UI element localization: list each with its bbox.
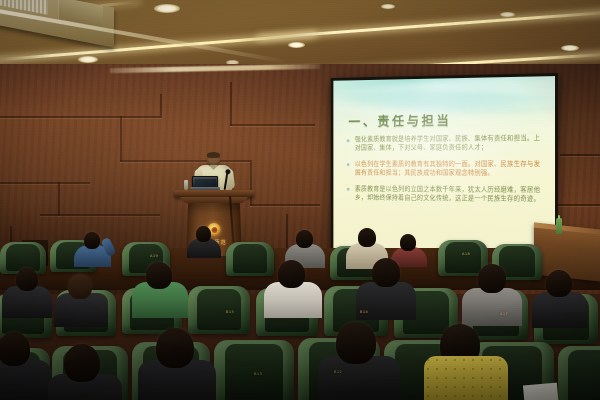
laptop-screen: [195, 179, 216, 186]
audience-head: [156, 328, 194, 368]
audience-shoulders: [0, 360, 52, 400]
audience-head: [146, 262, 172, 289]
podium-bevel: [180, 197, 248, 203]
audience-head: [196, 226, 211, 242]
audience-head: [84, 232, 100, 249]
ceiling-soffit: [0, 0, 114, 48]
downlight-icon: [288, 42, 305, 48]
downlight-icon: [561, 45, 579, 51]
slide-bullet: 以色列在学生素质的教育有其独特的一面。对国家、民族生存与发展有责任和担当；其民族…: [346, 160, 545, 179]
seat-number: B15: [226, 310, 234, 314]
audience-head: [336, 322, 376, 364]
slide-bullet: 素质教育是以色列的立国之本数千年来，犹太人历经磨难，客居他乡，却始终保持着自己的…: [346, 185, 545, 205]
audience-head: [64, 344, 100, 382]
slide-bullet: 强化素质教育就是培养学生对国家、民族、集体有责任和担当。上对国家、集体，下对父母…: [346, 134, 545, 153]
seat-number: A17: [500, 312, 508, 316]
audience-shoulders-patterned: [424, 356, 508, 400]
audience-head: [358, 228, 376, 247]
seat-number: B12: [334, 370, 342, 374]
podium-top: [174, 190, 254, 197]
seat[interactable]: [214, 340, 294, 400]
audience-head: [372, 258, 400, 287]
paper-sheet: [523, 383, 559, 400]
water-bottle: [184, 180, 188, 190]
ceiling: [0, 0, 600, 72]
audience-head: [16, 268, 38, 291]
seat[interactable]: [188, 286, 250, 334]
slide-title: 一、责任与担当: [349, 110, 452, 129]
downlight-icon: [154, 4, 180, 13]
seat-number: A19: [150, 254, 158, 258]
speaker-hair: [207, 152, 220, 158]
audience-head: [478, 264, 506, 293]
audience-shoulders: [462, 288, 522, 326]
audience-shoulders: [356, 282, 416, 320]
downlight-icon: [78, 56, 98, 63]
downlight-icon: [500, 12, 515, 17]
audience-head: [278, 260, 305, 288]
downlight-icon: [381, 4, 395, 9]
audience-shoulders: [532, 292, 588, 328]
seat[interactable]: [226, 242, 274, 276]
audience-head: [68, 274, 92, 299]
seat[interactable]: [558, 346, 600, 400]
audience: A19 A18: [0, 236, 600, 400]
seat-number: B14: [360, 310, 368, 314]
lecture-hall-photo: 一、责任与担当 强化素质教育就是培养学生对国家、民族、集体有责任和担当。上对国家…: [0, 0, 600, 400]
audience-head: [400, 234, 416, 251]
audience-head: [296, 230, 313, 248]
seat-number: B13: [254, 372, 262, 376]
ceiling-light-strip: [258, 9, 600, 39]
audience-head: [546, 270, 572, 297]
green-bottle: [556, 218, 562, 234]
seat-number: A18: [462, 252, 470, 256]
audience-head: [0, 332, 30, 366]
slide-body: 强化素质教育就是培养学生对国家、民族、集体有责任和担当。上对国家、集体，下对父母…: [346, 134, 545, 211]
